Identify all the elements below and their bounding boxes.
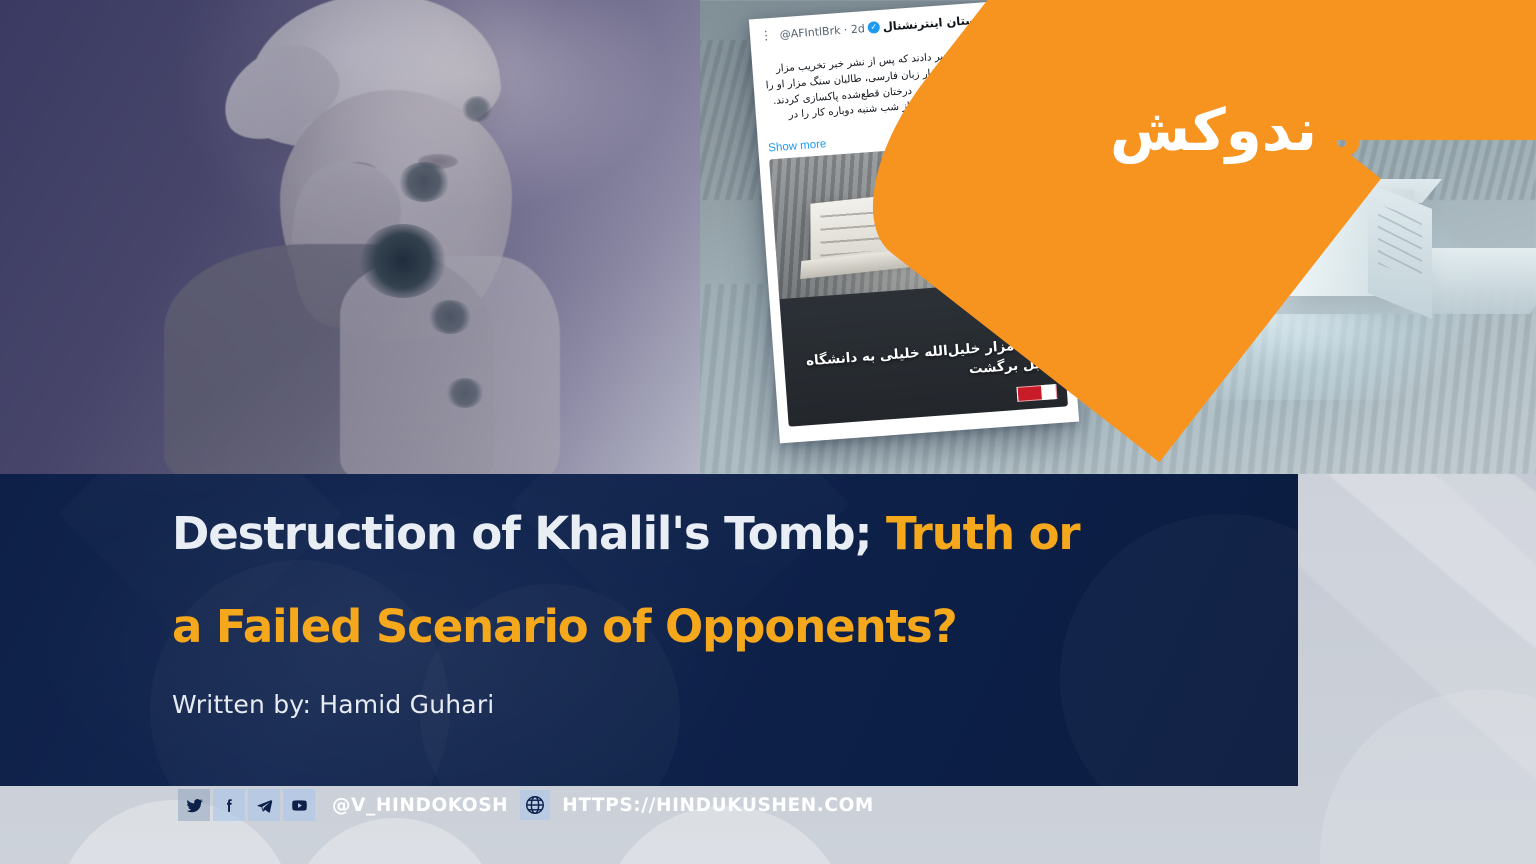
hero-photo-zone: افغانستان اینترنشنال ✓ @AFIntlBrk · 2d ⋮… [0,0,1536,474]
portrait-shawl [340,256,560,474]
logo-mark-icon: ه [1321,95,1362,165]
facebook-icon[interactable] [213,789,245,821]
title-line-1: Destruction of Khalil's Tomb; Truth or [172,510,1222,557]
photo-blur-blob [446,378,484,408]
title-line-2: a Failed Scenario of Opponents? [172,603,1222,650]
verified-badge-icon: ✓ [867,21,880,34]
title-segment-white: Destruction of Khalil's Tomb; [172,507,871,560]
tweet-handle-timestamp[interactable]: @AFIntlBrk · 2d [779,22,865,41]
social-handle[interactable]: @V_HINDOKOSH [332,795,508,816]
globe-icon [520,790,550,820]
photo-blur-blob [398,162,450,202]
khalili-portrait-photo [0,0,700,474]
photo-blur-blob [360,224,446,298]
youtube-icon[interactable] [283,789,315,821]
hindukush-logo[interactable]: ه ندوکش [1110,84,1370,176]
more-options-icon[interactable]: ⋮ [760,28,774,43]
footer-social-bar: @V_HINDOKOSH HTTPS://HINDUKUSHEN.COM [178,788,874,822]
page-title: Destruction of Khalil's Tomb; Truth or a… [172,510,1222,651]
article-byline: Written by: Hamid Guhari [172,690,494,719]
website-url[interactable]: HTTPS://HINDUKUSHEN.COM [562,795,874,816]
title-segment-yellow-2: a Failed Scenario of Opponents? [172,600,957,653]
media-channel-badge [1016,384,1057,402]
photo-blur-blob [428,300,472,334]
title-segment-yellow: Truth or [886,507,1080,560]
telegram-icon[interactable] [248,789,280,821]
banner-stage: افغانستان اینترنشنال ✓ @AFIntlBrk · 2d ⋮… [0,0,1536,864]
twitter-icon[interactable] [178,789,210,821]
title-panel: Destruction of Khalil's Tomb; Truth or a… [0,474,1298,786]
logo-wordmark: ندوکش [1110,101,1317,159]
photo-blur-blob [462,96,492,122]
